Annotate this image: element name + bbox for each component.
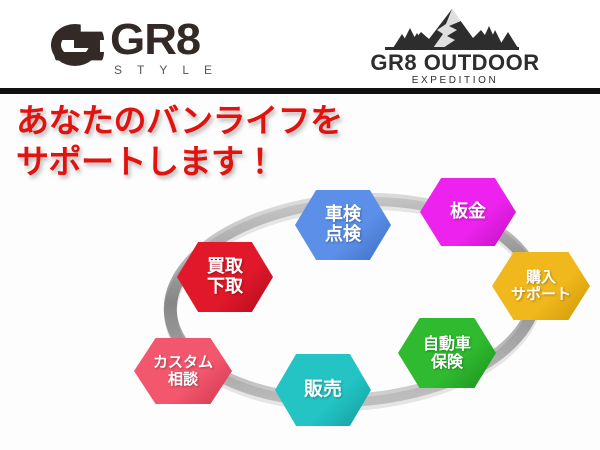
headline-line-2: サポートします！ [16,141,436,182]
headline-line-1: あなたのバンライフを [16,100,436,141]
gr8-g-mark-icon [48,16,110,76]
header-divider [0,88,600,94]
hex-label-shaken-tenken: 車検 点検 [323,205,363,245]
service-flow-diagram: 車検 点検板金購入 サポート自動車 保険販売カスタム 相談買取 下取 [120,178,590,446]
gr8-style-logo[interactable]: GR8 STYLE [48,14,278,80]
page-headline: あなたのバンライフを サポートします！ [16,100,436,182]
mountain-pine-icon [377,8,527,52]
expedition-subtitle: EXPEDITION [365,74,545,88]
hex-label-hanbai: 販売 [302,379,344,400]
expedition-row: ›››› EXPEDITION [365,74,545,88]
header-bar: GR8 STYLE GR8 OUTDOOR ›››› EXPEDITIO [0,0,600,88]
gr8-wordmark: GR8 [110,18,200,62]
hex-label-bankin: 板金 [448,202,488,222]
hex-label-jidousha-hoken: 自動車 保険 [421,335,473,371]
hex-label-custom-soudan: カスタム 相談 [151,354,215,388]
page-canvas: GR8 STYLE GR8 OUTDOOR ›››› EXPEDITIO [0,0,600,450]
gr8-outdoor-logo[interactable]: GR8 OUTDOOR ›››› EXPEDITION [365,8,545,84]
gr8-outdoor-wordmark: GR8 OUTDOOR [365,50,545,76]
hex-label-kounyu-support: 購入 サポート [509,269,573,303]
hex-label-kaitori-shitadori: 買取 下取 [205,257,245,297]
gr8-style-subtitle: STYLE [114,63,227,77]
